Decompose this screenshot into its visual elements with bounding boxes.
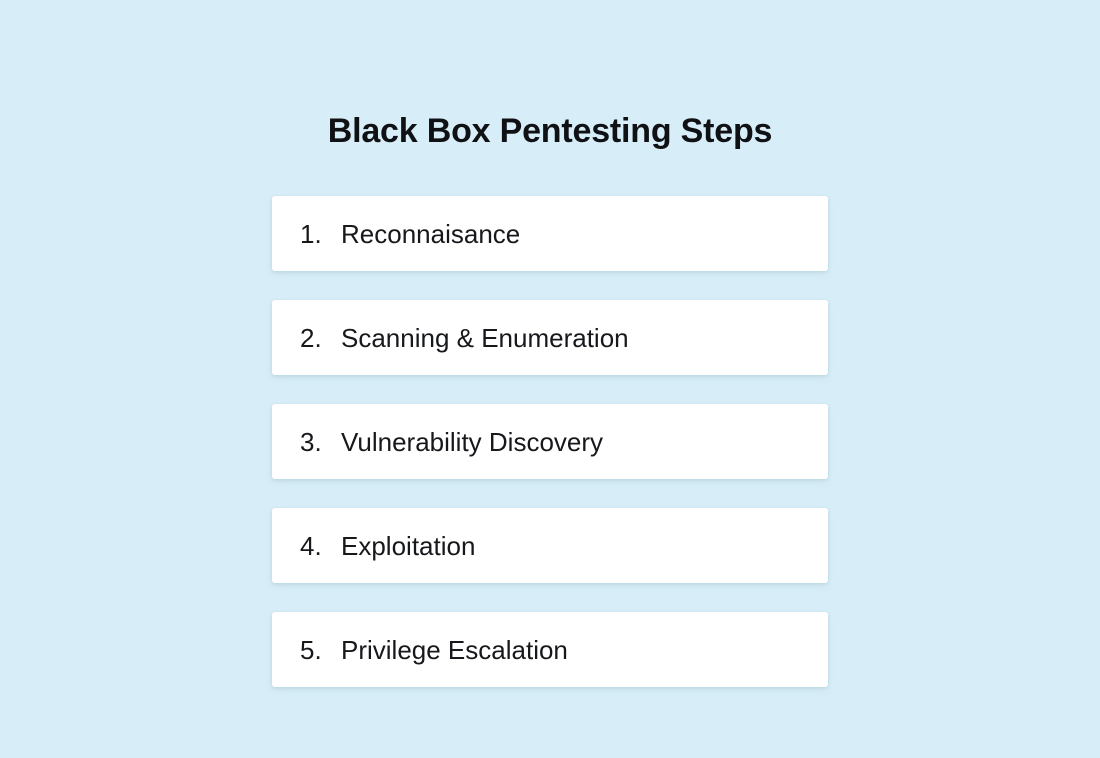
step-number: 5. (300, 637, 341, 663)
step-number: 1. (300, 221, 341, 247)
step-label: Scanning & Enumeration (341, 325, 828, 351)
infographic-canvas: Black Box Pentesting Steps 1. Reconnaisa… (0, 0, 1100, 758)
step-card: 5. Privilege Escalation (272, 612, 828, 687)
step-label: Exploitation (341, 533, 828, 559)
step-card: 2. Scanning & Enumeration (272, 300, 828, 375)
page-title: Black Box Pentesting Steps (0, 111, 1100, 152)
step-card: 4. Exploitation (272, 508, 828, 583)
steps-list: 1. Reconnaisance 2. Scanning & Enumerati… (272, 196, 828, 687)
step-number: 4. (300, 533, 341, 559)
step-card: 1. Reconnaisance (272, 196, 828, 271)
step-label: Reconnaisance (341, 221, 828, 247)
step-number: 2. (300, 325, 341, 351)
step-label: Privilege Escalation (341, 637, 828, 663)
step-card: 3. Vulnerability Discovery (272, 404, 828, 479)
step-label: Vulnerability Discovery (341, 429, 828, 455)
step-number: 3. (300, 429, 341, 455)
